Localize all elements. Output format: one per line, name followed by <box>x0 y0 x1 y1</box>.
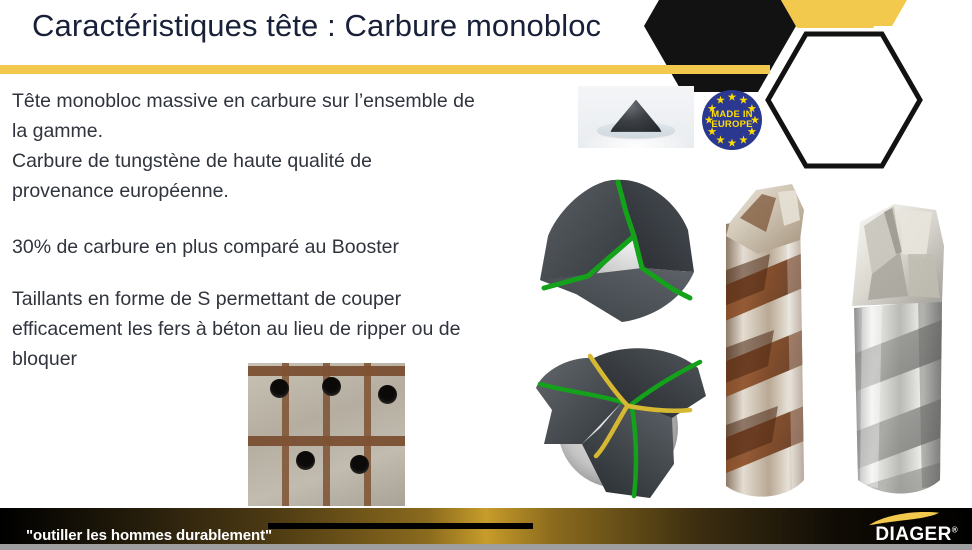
diager-logo: DIAGER® <box>850 512 958 546</box>
badge-text-line2: EUROPE <box>702 120 762 130</box>
drilled-hole <box>322 377 341 396</box>
drilled-hole <box>350 455 369 474</box>
carbide-head-render-green-edges <box>522 172 717 332</box>
logo-wordmark-text: DIAGER <box>875 524 951 545</box>
body-line: Carbure de tungstène de haute qualité de <box>12 146 557 176</box>
drilled-hole <box>270 379 289 398</box>
logo-registered-mark: ® <box>952 526 958 535</box>
eu-star <box>716 135 725 144</box>
body-line: provenance européenne. <box>12 176 557 206</box>
drill-bit-used-photo <box>700 180 818 505</box>
page-title: Caractéristiques tête : Carbure monobloc <box>32 8 601 44</box>
paragraph-spacer <box>12 262 557 284</box>
drilled-concrete-rebar-photo <box>248 363 405 506</box>
body-line: 30% de carbure en plus comparé au Booste… <box>12 232 557 262</box>
carbide-head-render-green-yellow-edges <box>522 332 720 500</box>
drilled-hole <box>296 451 315 470</box>
title-underline-rule <box>0 65 770 74</box>
hexagon-solid-yellow <box>759 0 911 28</box>
tungsten-carbide-powder-photo <box>578 86 694 148</box>
footer-tagline: "outiller les hommes durablement" <box>26 527 272 544</box>
carbide-powder-pile <box>610 100 661 132</box>
hexagon-solid-yellow-2 <box>782 0 930 26</box>
eu-star <box>739 135 748 144</box>
body-line: Tête monobloc massive en carbure sur l’e… <box>12 86 557 116</box>
footer-bottom-strip <box>0 544 972 550</box>
body-line: efficacement les fers à béton au lieu de… <box>12 314 557 344</box>
body-text-block: Tête monobloc massive en carbure sur l’e… <box>12 86 557 374</box>
body-line: Taillants en forme de S permettant de co… <box>12 284 557 314</box>
eu-star <box>716 96 725 105</box>
hexagon-outline-black <box>768 34 920 166</box>
body-line: la gamme. <box>12 116 557 146</box>
logo-wordmark: DIAGER® <box>850 524 958 546</box>
badge-text: MADE IN EUROPE <box>702 110 762 130</box>
eu-star <box>728 93 737 102</box>
hexagon-solid-black <box>644 0 796 92</box>
drilled-hole <box>378 385 397 404</box>
drill-bit-new-photo <box>838 196 958 506</box>
eu-star <box>739 96 748 105</box>
made-in-europe-badge: MADE IN EUROPE <box>702 90 762 150</box>
footer-black-bar <box>268 523 533 529</box>
paragraph-spacer <box>12 206 557 232</box>
eu-star <box>728 139 737 148</box>
slide-canvas: Caractéristiques tête : Carbure monobloc… <box>0 0 972 550</box>
